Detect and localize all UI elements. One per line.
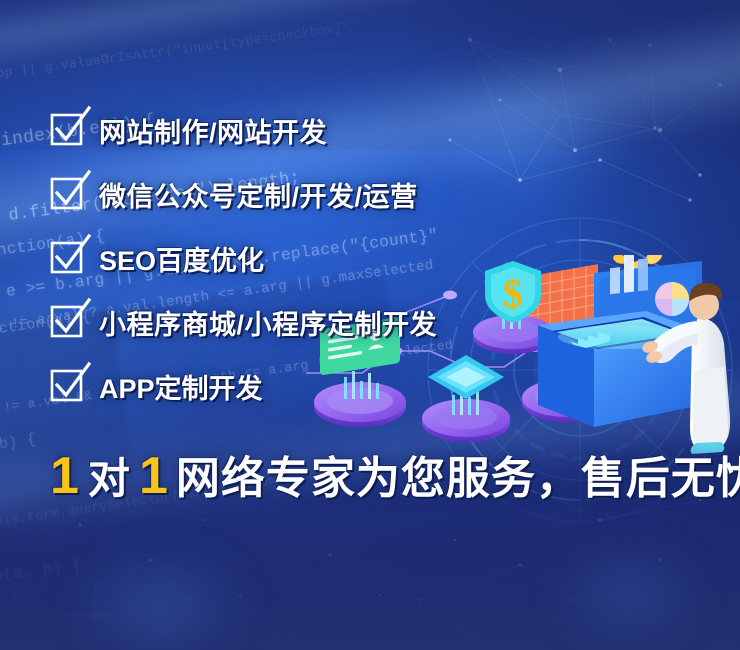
tagline-number-first: 1 xyxy=(50,450,79,502)
feature-item-miniapp[interactable]: 小程序商城/小程序定制开发 xyxy=(52,290,692,354)
checkbox-checked-icon[interactable] xyxy=(52,115,82,145)
tagline-middle-word: 对 xyxy=(88,458,130,500)
feature-item-wechat[interactable]: 微信公众号定制/开发/运营 xyxy=(52,162,692,226)
checkbox-checked-icon[interactable] xyxy=(52,371,82,401)
tagline-rest: 网络专家为您服务，售后无忧！ xyxy=(176,457,740,501)
feature-label: APP定制开发 xyxy=(99,367,263,406)
feature-item-app[interactable]: APP定制开发 xyxy=(52,354,692,418)
feature-item-seo[interactable]: SEO百度优化 xyxy=(52,226,692,290)
promo-banner: a.prop || g.valueOrIsAttr("input[type=ch… xyxy=(0,0,740,650)
checkbox-checked-icon[interactable] xyxy=(52,179,82,209)
checkbox-checked-icon[interactable] xyxy=(52,307,82,337)
checkbox-checked-icon[interactable] xyxy=(52,243,82,273)
feature-list: 网站制作/网站开发 微信公众号定制/开发/运营 SEO百度优化 xyxy=(52,98,692,418)
tagline: 1 对 1 网络专家为您服务，售后无忧！ xyxy=(50,450,740,502)
feature-item-website[interactable]: 网站制作/网站开发 xyxy=(52,98,692,162)
feature-label: 小程序商城/小程序定制开发 xyxy=(99,303,437,342)
feature-label: 网站制作/网站开发 xyxy=(99,111,327,150)
feature-label: 微信公众号定制/开发/运营 xyxy=(99,175,418,214)
feature-label: SEO百度优化 xyxy=(99,239,264,278)
tagline-number-second: 1 xyxy=(139,450,168,502)
